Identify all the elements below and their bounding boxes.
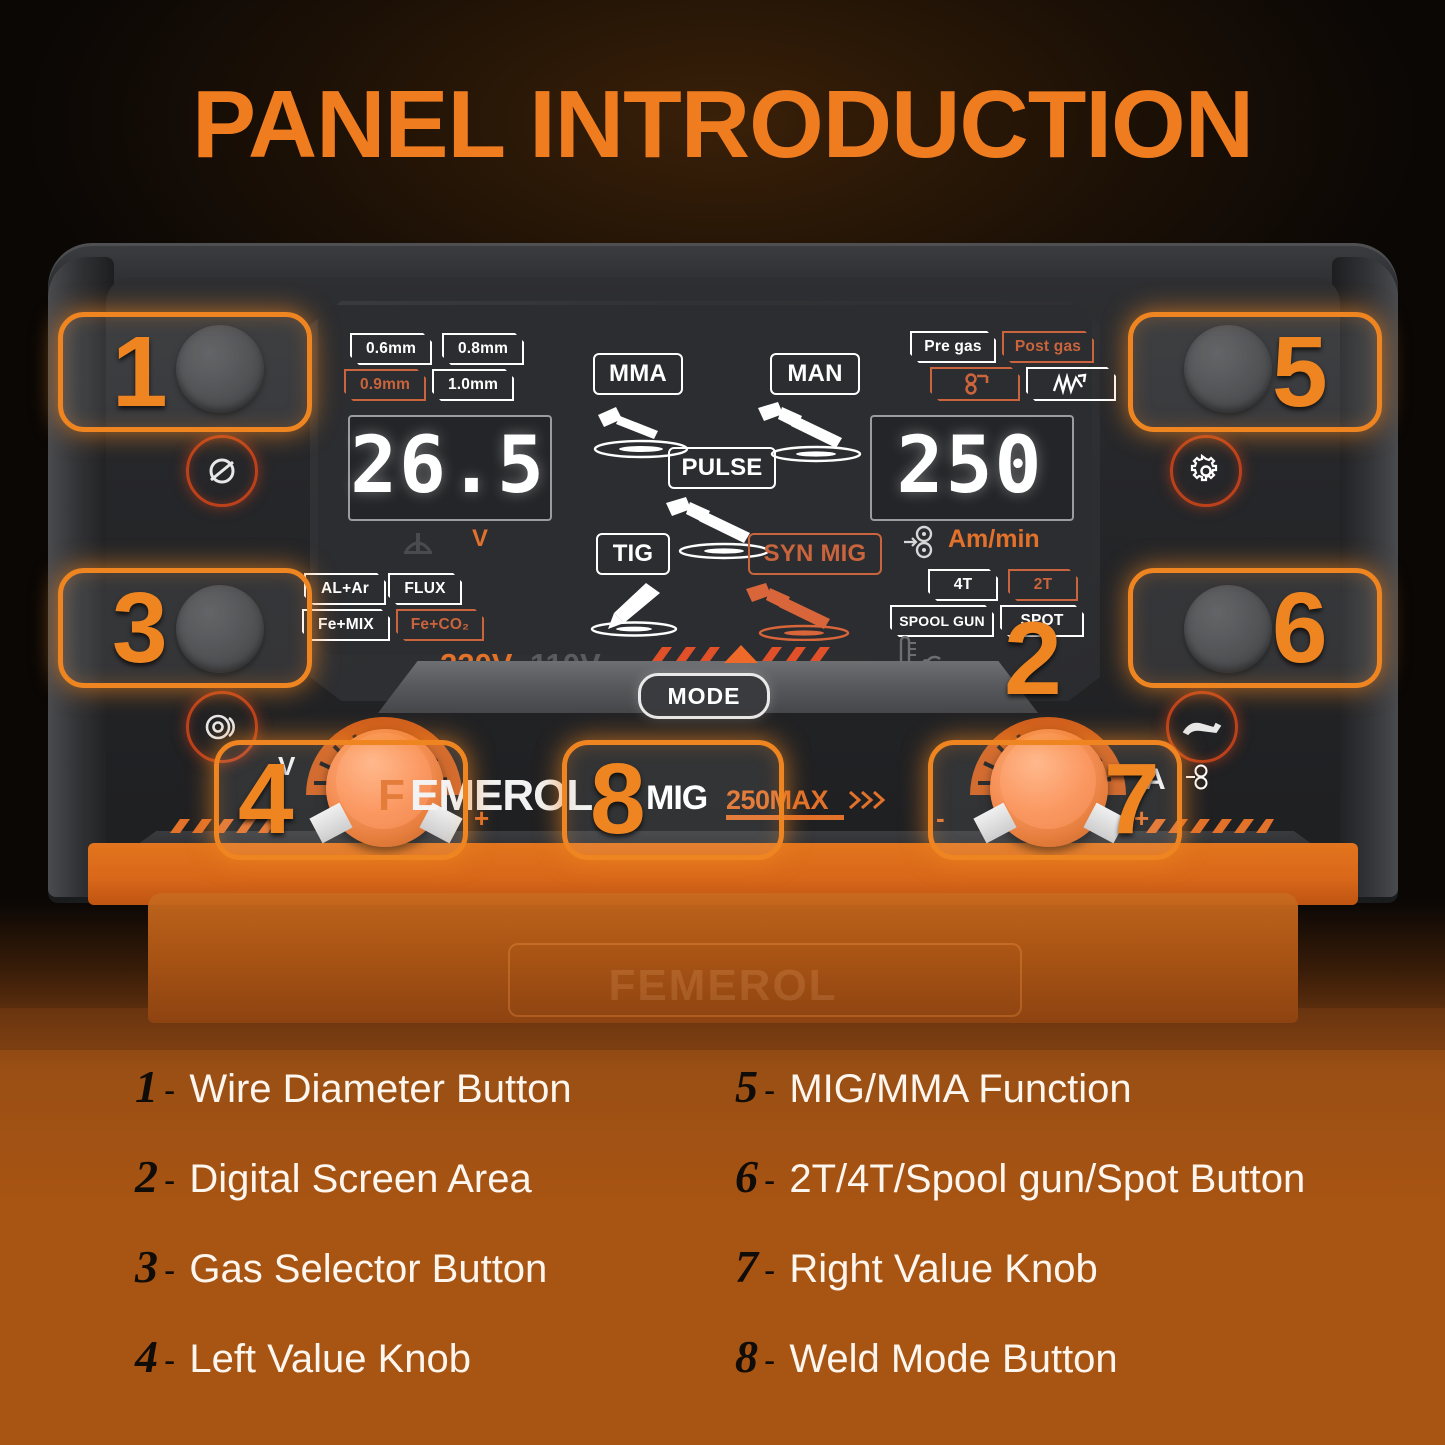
chip-mode-tig[interactable]: TIG (596, 533, 670, 575)
callout-box-3 (58, 568, 312, 688)
legend-item-6: 6 - 2T/4T/Spool gun/Spot Button (735, 1150, 1305, 1203)
legend-number-2: 2 (135, 1150, 158, 1203)
callout-box-5 (1128, 312, 1382, 432)
mode-button[interactable]: MODE (638, 673, 770, 719)
torch-trigger-icon (1180, 714, 1224, 740)
legend-item-8: 8 - Weld Mode Button (735, 1330, 1118, 1383)
legend-number-4: 4 (135, 1330, 158, 1383)
legend-text-5: MIG/MMA Function (789, 1067, 1131, 1112)
legend-dash-5: - (764, 1072, 775, 1111)
gear-icon (1189, 454, 1223, 488)
callout-number-4: 4 (238, 742, 294, 857)
legend-number-1: 1 (135, 1060, 158, 1113)
chip-wire-1-0mm[interactable]: 1.0mm (432, 369, 514, 401)
legend-dash-4: - (164, 1342, 175, 1381)
legend-dash-2: - (164, 1162, 175, 1201)
legend-text-2: Digital Screen Area (189, 1157, 531, 1202)
callout-number-2: 2 (1004, 600, 1062, 719)
legend-number-6: 6 (735, 1150, 758, 1203)
chip-inductance-icon-option[interactable] (1026, 367, 1116, 401)
legend-text-8: Weld Mode Button (789, 1337, 1117, 1382)
inductance-icon (1051, 373, 1091, 395)
chip-mode-man[interactable]: MAN (770, 353, 860, 395)
callout-number-1: 1 (112, 315, 168, 430)
callout-number-6: 6 (1272, 571, 1328, 686)
callout-number-5: 5 (1272, 315, 1328, 430)
legend-item-1: 1 - Wire Diameter Button (135, 1060, 572, 1113)
chip-pre-gas[interactable]: Pre gas (910, 331, 996, 363)
callout-box-6 (1128, 568, 1382, 688)
legend-number-3: 3 (135, 1240, 158, 1293)
chip-gas-al-ar[interactable]: AL+Ar (304, 573, 386, 605)
chip-wire-0-8mm[interactable]: 0.8mm (442, 333, 524, 365)
callout-number-8: 8 (590, 742, 646, 857)
callout-number-7: 7 (1104, 742, 1160, 857)
chip-mode-syn-mig[interactable]: SYN MIG (748, 533, 882, 575)
gas-spool-icon (203, 711, 241, 743)
machine-base-handle-text: FEMEROL (48, 961, 1398, 1011)
chip-burnback-icon-option[interactable] (930, 367, 1020, 401)
chip-mode-pulse[interactable]: PULSE (668, 447, 776, 489)
right-knob-wire-feed-icon (1184, 763, 1214, 791)
legend-item-7: 7 - Right Value Knob (735, 1240, 1098, 1293)
syn-mig-torch-icon (738, 579, 868, 641)
chip-post-gas[interactable]: Post gas (1002, 331, 1094, 363)
legend-item-3: 3 - Gas Selector Button (135, 1240, 547, 1293)
chip-mode-mma[interactable]: MMA (593, 353, 683, 395)
chip-gas-fe-mix[interactable]: Fe+MIX (302, 609, 390, 641)
mig-mma-led-ring (1170, 435, 1242, 507)
mode-chevron-indicators (646, 643, 836, 667)
right-display-value: 250 (870, 415, 1070, 517)
page-title: PANEL INTRODUCTION (0, 70, 1445, 180)
burnback-icon (958, 373, 992, 395)
chip-gas-flux[interactable]: FLUX (388, 573, 462, 605)
diameter-icon (205, 454, 239, 488)
legend-text-7: Right Value Knob (789, 1247, 1097, 1292)
voltage-arc-icon (400, 529, 436, 557)
callout-box-1 (58, 312, 312, 432)
legend-dash-1: - (164, 1072, 175, 1111)
wire-feed-roller-icon (902, 525, 942, 559)
legend-text-6: 2T/4T/Spool gun/Spot Button (789, 1157, 1305, 1202)
legend-text-1: Wire Diameter Button (189, 1067, 571, 1112)
legend-item-4: 4 - Left Value Knob (135, 1330, 471, 1383)
chip-gas-fe-co2[interactable]: Fe+CO₂ (396, 609, 484, 641)
legend-item-2: 2 - Digital Screen Area (135, 1150, 532, 1203)
brand-arrows-icon (848, 789, 896, 811)
legend-dash-8: - (764, 1342, 775, 1381)
left-display-unit: V (472, 525, 488, 553)
legend-text-3: Gas Selector Button (189, 1247, 547, 1292)
legend: 1 - Wire Diameter Button 2 - Digital Scr… (0, 1040, 1445, 1430)
left-display-value: 26.5 (348, 415, 548, 517)
legend-dash-7: - (764, 1252, 775, 1291)
legend-number-7: 7 (735, 1240, 758, 1293)
chip-wire-0-9mm[interactable]: 0.9mm (344, 369, 426, 401)
legend-dash-6: - (764, 1162, 775, 1201)
wire-diameter-led-ring (186, 435, 258, 507)
right-display-unit: Am/min (948, 525, 1040, 554)
legend-dash-3: - (164, 1252, 175, 1291)
legend-number-8: 8 (735, 1330, 758, 1383)
legend-number-5: 5 (735, 1060, 758, 1113)
legend-item-5: 5 - MIG/MMA Function (735, 1060, 1132, 1113)
callout-number-3: 3 (112, 571, 168, 686)
chip-wire-0-6mm[interactable]: 0.6mm (350, 333, 432, 365)
tig-torch-icon (588, 579, 688, 637)
legend-text-4: Left Value Knob (189, 1337, 471, 1382)
